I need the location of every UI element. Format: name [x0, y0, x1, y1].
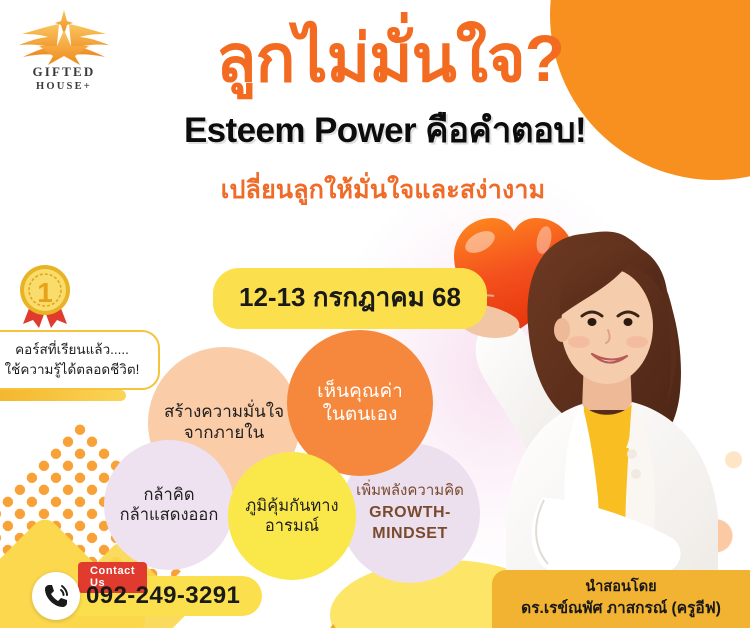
- instructor-photo: [432, 198, 732, 628]
- gold-medal-number-one-icon: 1: [15, 262, 75, 334]
- instructor-prefix: นำสอนโดย: [585, 578, 656, 597]
- callout-line2: ใช้ความรู้ได้ตลอดชีวิต!: [0, 360, 148, 380]
- poster-canvas: GIFTED HOUSE+ ลูกไม่มั่นใจ? Esteem Power…: [0, 0, 750, 628]
- bubble-express-line1: กล้าคิด: [120, 485, 219, 505]
- phone-icon-circle[interactable]: [32, 572, 80, 620]
- bubble-emotional-immunity: ภูมิคุ้มกันทาง อารมณ์: [228, 452, 356, 580]
- brand-name-line2: HOUSE+: [10, 81, 118, 92]
- bubble-confidence-line1: สร้างความมั่นใจ: [164, 402, 284, 423]
- headline-sub: Esteem Power คือคำตอบ!: [0, 103, 750, 158]
- hot-price-flame-badge: HOT PRICE: [303, 622, 363, 628]
- bubble-self-value-line2: ในตนเอง: [317, 403, 403, 426]
- gold-bar-decoration: [0, 390, 126, 401]
- lifetime-access-callout: คอร์สที่เรียนแล้ว..... ใช้ความรู้ได้ตลอด…: [0, 330, 160, 390]
- bubble-emotion-line2: อารมณ์: [245, 516, 338, 536]
- contact-phone-number[interactable]: 092-249-3291: [86, 582, 240, 610]
- date-badge: 12-13 กรกฎาคม 68: [213, 268, 487, 329]
- bubble-express-line2: กล้าแสดงออก: [120, 505, 219, 525]
- headline-tagline: เปลี่ยนลูกให้มั่นใจและสง่างาม: [0, 170, 750, 210]
- instructor-banner: นำสอนโดย ดร.เรข์ณพัศ ภาสกรณ์ (ครูอีฟ): [492, 570, 750, 628]
- svg-text:1: 1: [37, 277, 53, 308]
- bubble-emotion-line1: ภูมิคุ้มกันทาง: [245, 496, 338, 516]
- bubble-self-value-line1: เห็นคุณค่า: [317, 380, 403, 403]
- instructor-name: ดร.เรข์ณพัศ ภาสกรณ์ (ครูอีฟ): [521, 599, 721, 620]
- bubble-express: กล้าคิด กล้าแสดงออก: [104, 440, 234, 570]
- winged-star-icon: [14, 8, 114, 66]
- brand-logo: GIFTED HOUSE+: [10, 8, 118, 92]
- callout-line1: คอร์สที่เรียนแล้ว.....: [0, 340, 148, 360]
- phone-ringing-icon: [42, 582, 70, 610]
- brand-name-line1: GIFTED: [10, 64, 118, 80]
